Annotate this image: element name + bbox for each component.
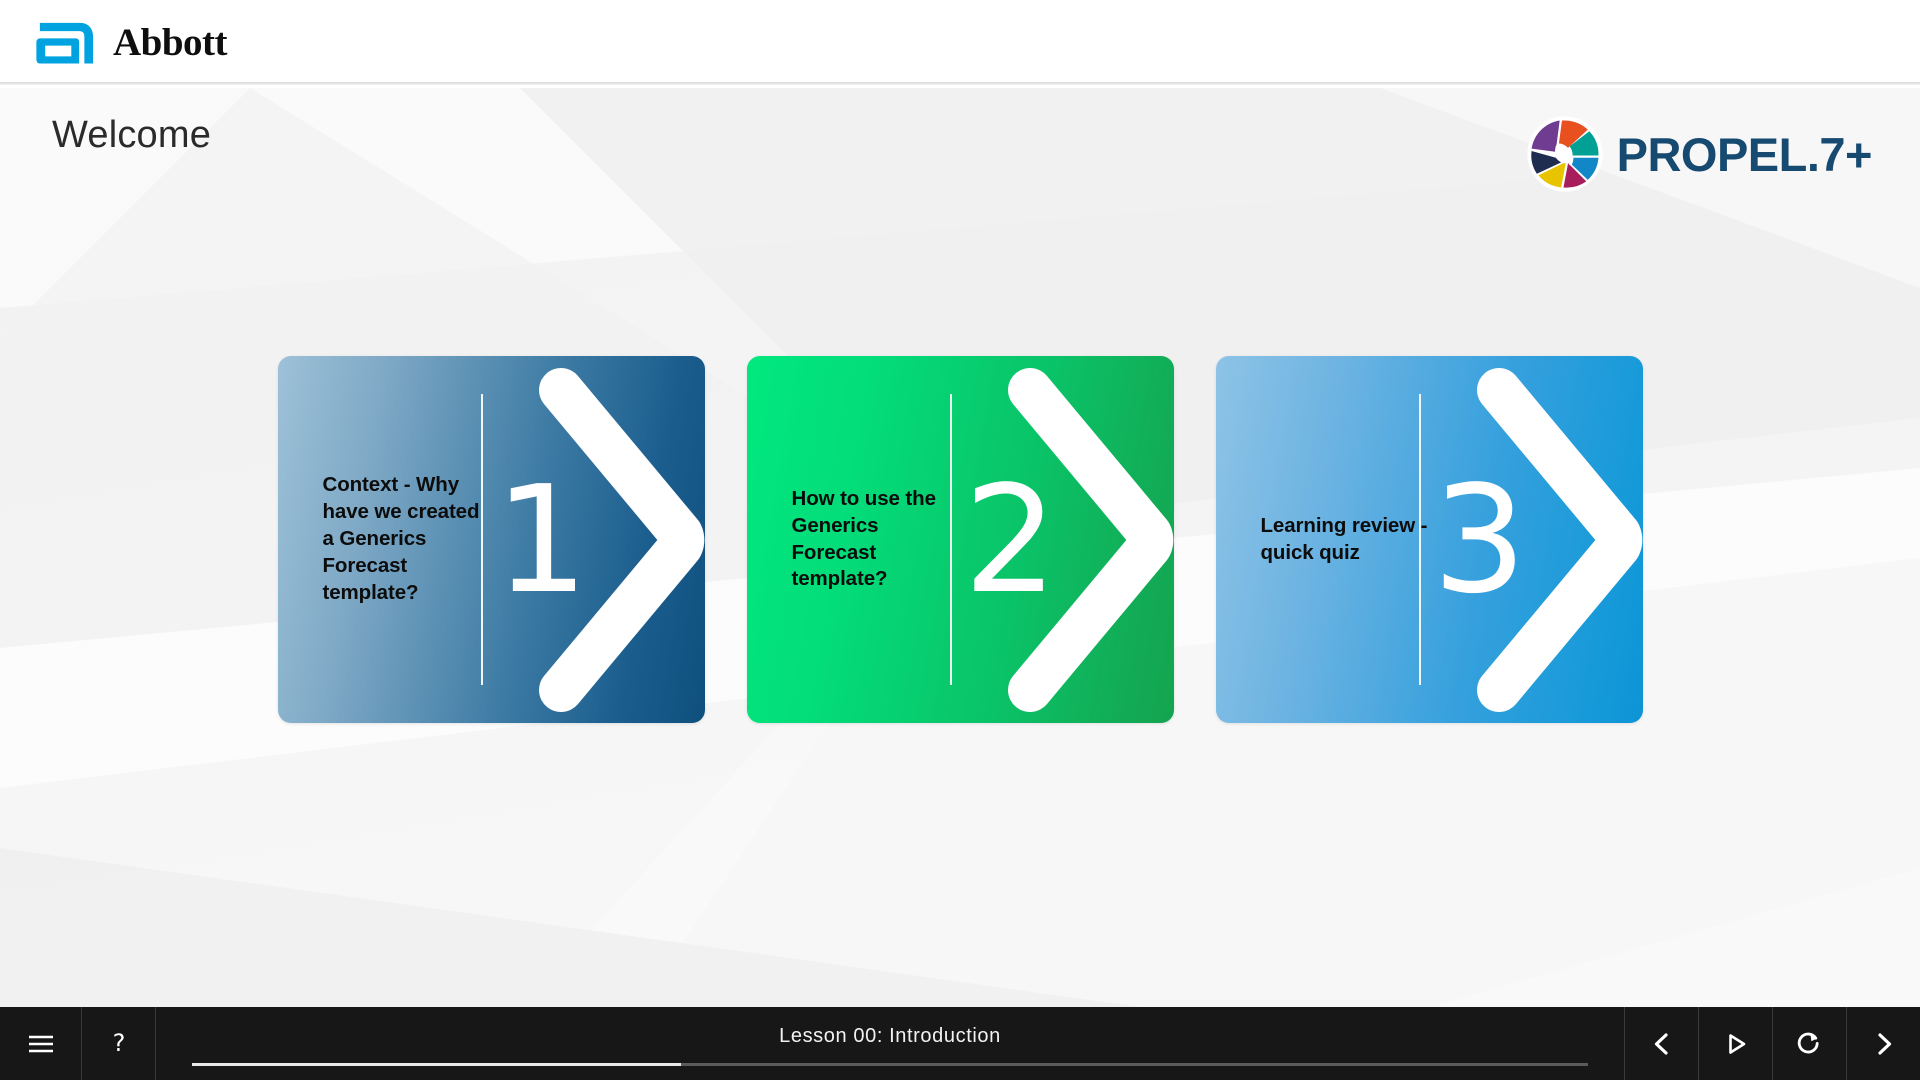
topic-card-3-label: Learning review - quick quiz xyxy=(1261,513,1429,567)
previous-button[interactable] xyxy=(1624,1007,1698,1080)
topic-card-2-label: How to use the Generics Forecast templat… xyxy=(792,486,960,593)
menu-button[interactable] xyxy=(0,1007,82,1080)
next-chevron-icon xyxy=(1871,1031,1897,1057)
play-icon xyxy=(1723,1031,1749,1057)
card-divider xyxy=(1419,394,1421,685)
propel-wordmark: PROPEL.7+ xyxy=(1617,131,1872,178)
card-divider xyxy=(481,394,483,685)
abbott-logo: Abbott xyxy=(36,20,227,66)
topic-card-1[interactable]: Context - Why have we created a Generics… xyxy=(278,356,705,723)
help-button[interactable]: ? xyxy=(82,1007,156,1080)
abbott-a-mark-icon xyxy=(36,20,96,66)
previous-chevron-icon xyxy=(1649,1031,1675,1057)
play-button[interactable] xyxy=(1698,1007,1772,1080)
progress-bar-fill xyxy=(192,1063,681,1066)
aperture-icon xyxy=(1527,116,1603,192)
topic-card-list: Context - Why have we created a Generics… xyxy=(0,356,1920,723)
chevron-right-icon: 2 xyxy=(942,356,1174,723)
page-title: Welcome xyxy=(52,114,211,157)
topic-card-1-number: 1 xyxy=(495,466,589,614)
playback-controls xyxy=(1624,1007,1920,1080)
replay-icon xyxy=(1797,1031,1823,1057)
slide-stage: Abbott xyxy=(0,0,1920,1080)
abbott-wordmark: Abbott xyxy=(113,20,227,65)
hamburger-menu-icon xyxy=(28,1031,54,1057)
svg-text:?: ? xyxy=(112,1031,125,1057)
question-mark-icon: ? xyxy=(106,1031,132,1057)
topic-card-3-number: 3 xyxy=(1433,466,1527,614)
lesson-title: Lesson 00: Introduction xyxy=(779,1025,1001,1048)
player-progress-area[interactable]: Lesson 00: Introduction xyxy=(156,1007,1624,1080)
propel-logo: PROPEL.7+ xyxy=(1527,116,1872,192)
player-toolbar: ? Lesson 00: Introduction xyxy=(0,1007,1920,1080)
progress-bar[interactable] xyxy=(192,1063,1588,1066)
chevron-right-icon: 1 xyxy=(473,356,705,723)
next-button[interactable] xyxy=(1846,1007,1920,1080)
topic-card-2[interactable]: How to use the Generics Forecast templat… xyxy=(747,356,1174,723)
chevron-right-icon: 3 xyxy=(1411,356,1643,723)
topic-card-3[interactable]: Learning review - quick quiz 3 xyxy=(1216,356,1643,723)
topic-card-1-label: Context - Why have we created a Generics… xyxy=(323,472,491,606)
slide-canvas: Welcome PROPEL.7 xyxy=(0,88,1920,1007)
card-divider xyxy=(950,394,952,685)
replay-button[interactable] xyxy=(1772,1007,1846,1080)
topic-card-2-number: 2 xyxy=(964,466,1058,614)
brand-header: Abbott xyxy=(0,0,1920,85)
